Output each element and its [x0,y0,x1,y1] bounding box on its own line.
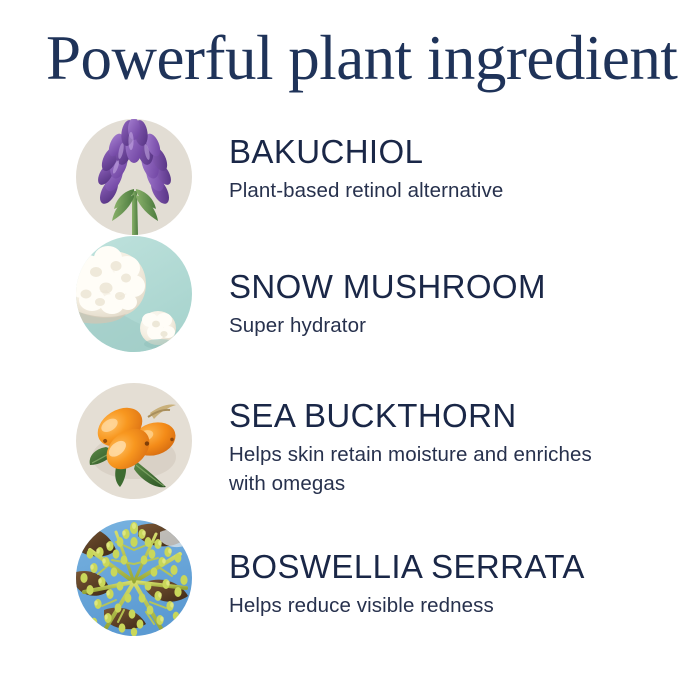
ingredient-row-bakuchiol: BAKUCHIOL Plant-based retinol alternativ… [0,119,679,235]
boswellia-serrata-photo [76,520,192,636]
ingredient-description: Helps reduce visible redness [229,591,609,620]
ingredient-name: SEA BUCKTHORN [229,397,679,435]
snow-mushroom-thumbnail [76,236,192,352]
sea-buckthorn-berries-photo [76,383,192,499]
ingredient-row-boswellia-serrata: BOSWELLIA SERRATA Helps reduce visible r… [0,520,679,636]
snow-mushroom-text-block: SNOW MUSHROOM Super hydrator [229,236,679,340]
sea-buckthorn-thumbnail [76,383,192,499]
boswellia-text-block: BOSWELLIA SERRATA Helps reduce visible r… [229,520,679,620]
snow-mushroom-photo [76,236,192,352]
page-title: Powerful plant ingredients [46,22,656,94]
ingredient-description: Super hydrator [229,311,609,340]
ingredients-infographic: Powerful plant ingredients [0,0,679,679]
ingredient-name: BAKUCHIOL [229,133,679,171]
boswellia-thumbnail [76,520,192,636]
ingredient-name: BOSWELLIA SERRATA [229,548,679,586]
ingredient-name: SNOW MUSHROOM [229,268,679,306]
ingredient-description: Helps skin retain moisture and enriches … [229,440,609,498]
bakuchiol-thumbnail [76,119,192,235]
ingredient-row-sea-buckthorn: SEA BUCKTHORN Helps skin retain moisture… [0,383,679,499]
bakuchiol-text-block: BAKUCHIOL Plant-based retinol alternativ… [229,119,679,205]
ingredient-description: Plant-based retinol alternative [229,176,609,205]
ingredient-row-snow-mushroom: SNOW MUSHROOM Super hydrator [0,236,679,352]
bakuchiol-flower-photo [76,119,192,235]
sea-buckthorn-text-block: SEA BUCKTHORN Helps skin retain moisture… [229,383,679,498]
